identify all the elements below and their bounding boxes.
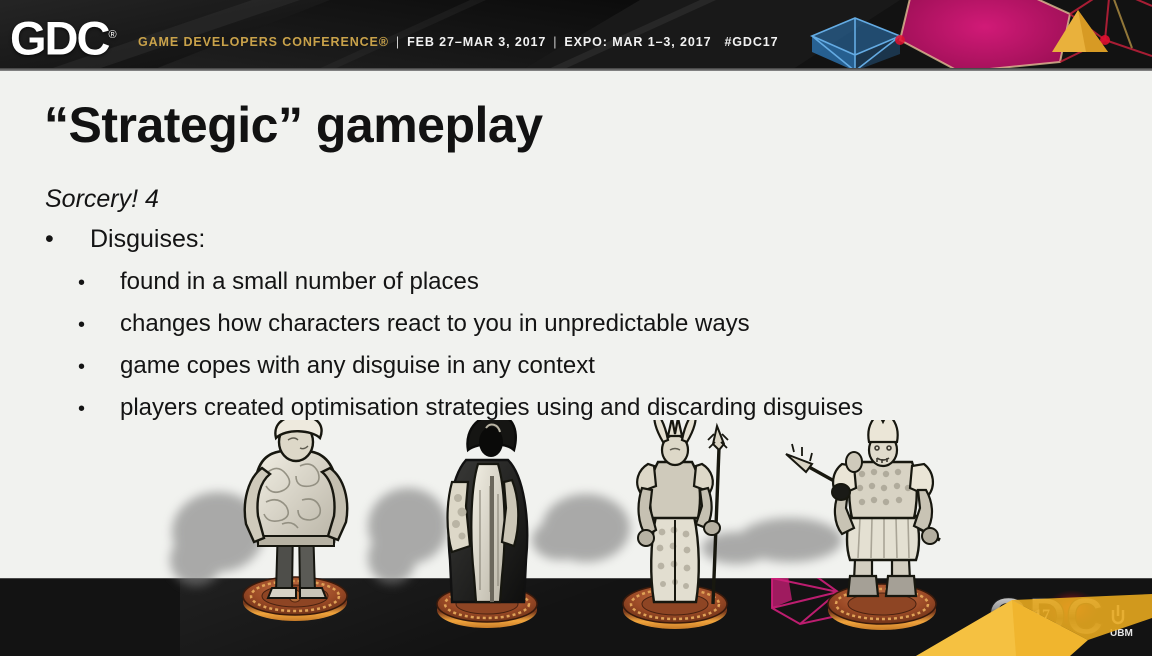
spear-head bbox=[786, 454, 812, 472]
pauldron bbox=[910, 464, 933, 496]
bullet-glyph: • bbox=[78, 398, 120, 421]
bullet-glyph: • bbox=[78, 356, 120, 379]
gdc-top-banner: GDC® GAME DEVELOPERS CONFERENCE®|FEB 27–… bbox=[0, 0, 1152, 71]
bullet-level2: •game copes with any disguise in any con… bbox=[78, 352, 595, 380]
figure-cap bbox=[275, 420, 321, 438]
bullet-level1-label: Disguises: bbox=[90, 225, 205, 253]
gold-polygon-icon bbox=[916, 594, 1152, 656]
spear-shaft bbox=[800, 462, 940, 540]
conference-registered: ® bbox=[379, 35, 389, 49]
slide-footer-band: GDC 17 UBM bbox=[0, 578, 1152, 656]
banner-expo-dates: EXPO: MAR 1–3, 2017 bbox=[564, 35, 711, 49]
gdc-logo: GDC® bbox=[10, 12, 117, 62]
figurine-shadows bbox=[170, 488, 842, 586]
face-features bbox=[875, 446, 891, 463]
helm-crest bbox=[880, 420, 886, 422]
pauldron bbox=[833, 464, 856, 496]
presentation-slide: GDC® GAME DEVELOPERS CONFERENCE®|FEB 27–… bbox=[0, 0, 1152, 656]
bullet-level1: •Disguises: bbox=[45, 225, 205, 254]
banner-separator-2: | bbox=[546, 35, 564, 49]
shoulder-pouch bbox=[846, 452, 862, 472]
figure-head bbox=[279, 423, 313, 461]
banner-tagline: GAME DEVELOPERS CONFERENCE®|FEB 27–MAR 3… bbox=[138, 35, 779, 49]
robe-sleeve bbox=[448, 482, 471, 552]
banner-bottom-edge bbox=[0, 68, 1152, 71]
conference-name: GAME DEVELOPERS CONFERENCE bbox=[138, 35, 379, 49]
gdc-logo-registered: ® bbox=[108, 29, 116, 41]
scale-armour-pattern bbox=[857, 469, 911, 505]
spear-barbs bbox=[708, 434, 728, 448]
bullet-level2: •found in a small number of places bbox=[78, 268, 479, 296]
horned-helm-icon bbox=[654, 420, 695, 442]
gdc-logo-text: GDC bbox=[10, 12, 108, 65]
spear-head bbox=[713, 426, 724, 450]
footer-decorative-shapes bbox=[0, 578, 1152, 656]
bullet-level2-label: game copes with any disguise in any cont… bbox=[120, 352, 595, 379]
slide-subtitle: Sorcery! 4 bbox=[45, 185, 159, 214]
bullet-level2-label: changes how characters react to you in u… bbox=[120, 310, 750, 337]
bullet-level2-label: players created optimisation strategies … bbox=[120, 394, 863, 421]
figure-hood bbox=[467, 420, 515, 450]
bullet-level2-label: found in a small number of places bbox=[120, 268, 479, 295]
bullet-glyph: • bbox=[78, 314, 120, 337]
spear-hand bbox=[922, 528, 938, 544]
banner-separator-1: | bbox=[389, 35, 407, 49]
tunic-pattern bbox=[264, 464, 320, 528]
gauntlet-hand bbox=[832, 484, 850, 500]
spear-barbs bbox=[792, 444, 812, 461]
page-title: “Strategic” gameplay bbox=[44, 96, 543, 154]
helm bbox=[868, 420, 897, 442]
spear-hand bbox=[704, 521, 720, 535]
hood-shadow-face bbox=[479, 427, 503, 457]
bullet-glyph: • bbox=[45, 225, 90, 254]
banner-hashtag: #GDC17 bbox=[724, 35, 778, 49]
banner-dates: FEB 27–MAR 3, 2017 bbox=[407, 35, 546, 49]
bullet-glyph: • bbox=[78, 272, 120, 295]
bullet-level2: •players created optimisation strategies… bbox=[78, 394, 863, 422]
sleeve-pattern bbox=[452, 494, 467, 540]
bullet-level2: •changes how characters react to you in … bbox=[78, 310, 750, 338]
